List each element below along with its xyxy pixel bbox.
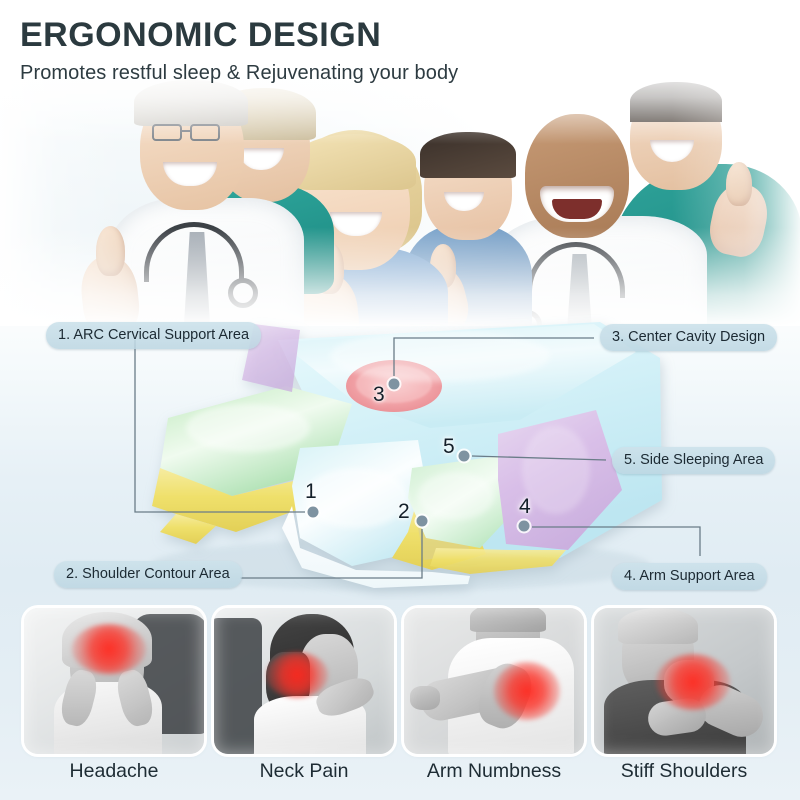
symptom-caption-stiff-shoulders: Stiff Shoulders bbox=[594, 760, 774, 783]
callout-label-2[interactable]: 2. Shoulder Contour Area bbox=[54, 561, 242, 588]
marker-number-3: 3 bbox=[373, 383, 385, 407]
hero-photo-doctors bbox=[0, 66, 800, 326]
callout-label-1[interactable]: 1. ARC Cervical Support Area bbox=[46, 322, 261, 349]
page-title: ERGONOMIC DESIGN bbox=[20, 18, 458, 54]
symptom-card-headache[interactable] bbox=[24, 608, 204, 754]
symptom-photo-stiff-shoulders bbox=[594, 608, 774, 754]
symptom-photo-headache bbox=[24, 608, 204, 754]
marker-number-5: 5 bbox=[443, 435, 455, 459]
symptom-card-stiff-shoulders[interactable] bbox=[594, 608, 774, 754]
symptom-card-neck-pain[interactable] bbox=[214, 608, 394, 754]
callout-label-3[interactable]: 3. Center Cavity Design bbox=[600, 324, 777, 351]
symptom-panel-row: Headache Neck Pain bbox=[0, 604, 800, 800]
marker-number-1: 1 bbox=[305, 480, 317, 504]
marker-number-4: 4 bbox=[519, 495, 531, 519]
callout-label-4[interactable]: 4. Arm Support Area bbox=[612, 563, 767, 590]
infographic-page: ERGONOMIC DESIGN Promotes restful sleep … bbox=[0, 0, 800, 800]
symptom-caption-arm-numbness: Arm Numbness bbox=[404, 760, 584, 783]
symptom-photo-arm-numbness bbox=[404, 608, 584, 754]
callout-label-5[interactable]: 5. Side Sleeping Area bbox=[612, 447, 775, 474]
header-block: ERGONOMIC DESIGN Promotes restful sleep … bbox=[20, 18, 458, 85]
symptom-photo-neck-pain bbox=[214, 608, 394, 754]
marker-number-2: 2 bbox=[398, 500, 410, 524]
symptom-card-arm-numbness[interactable] bbox=[404, 608, 584, 754]
symptom-caption-neck-pain: Neck Pain bbox=[214, 760, 394, 783]
page-subtitle: Promotes restful sleep & Rejuvenating yo… bbox=[20, 62, 458, 85]
symptom-caption-headache: Headache bbox=[24, 760, 204, 783]
